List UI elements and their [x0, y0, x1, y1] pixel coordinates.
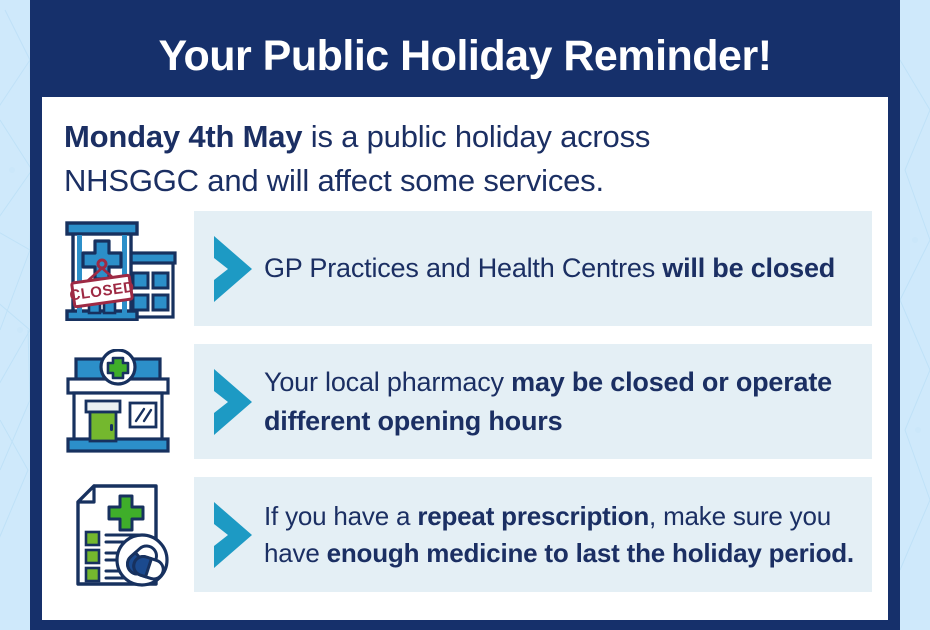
chevron-right-icon [194, 232, 264, 306]
intro-line2: NHSGGC and will affect some services. [64, 163, 604, 198]
health-centre-closed-icon: CLOSED [59, 217, 177, 321]
poster-header: • • • Your Public Holiday Reminder! [30, 0, 900, 97]
row2-regular: Your local pharmacy [264, 367, 511, 397]
row-icon-slot: CLOSED [42, 211, 194, 326]
intro-line1-rest: is a public holiday across [302, 119, 650, 154]
reminder-row-gp-practices: CLOSED GP Practices and Health Centres w… [42, 211, 888, 326]
row3-bold-2: enough medicine to last the holiday peri… [327, 538, 854, 568]
row-text: GP Practices and Health Centres will be … [264, 249, 853, 287]
repeat-prescription-icon [62, 480, 174, 590]
pharmacy-shop-icon [62, 349, 174, 455]
row-text-box: Your local pharmacy may be closed or ope… [194, 344, 872, 459]
row3-regular-1: If you have a [264, 501, 417, 531]
row1-bold: will be closed [662, 253, 835, 283]
row-text: If you have a repeat prescription, make … [264, 498, 872, 572]
chevron-right-icon [194, 365, 264, 439]
row3-bold-1: repeat prescription [417, 501, 649, 531]
row-text-box: GP Practices and Health Centres will be … [194, 211, 872, 326]
reminder-row-pharmacy: Your local pharmacy may be closed or ope… [42, 344, 888, 459]
reminder-rows: CLOSED GP Practices and Health Centres w… [42, 203, 888, 592]
row-icon-slot [42, 477, 194, 592]
reminder-row-prescription: If you have a repeat prescription, make … [42, 477, 888, 592]
intro-paragraph: Monday 4th May is a public holiday acros… [42, 97, 888, 203]
intro-bold-date: Monday 4th May [64, 119, 302, 154]
row1-regular: GP Practices and Health Centres [264, 253, 662, 283]
row-text: Your local pharmacy may be closed or ope… [264, 363, 872, 440]
row-text-box: If you have a repeat prescription, make … [194, 477, 872, 592]
content-card: Monday 4th May is a public holiday acros… [42, 97, 888, 620]
page-title: Your Public Holiday Reminder! [158, 32, 771, 97]
chevron-right-icon [194, 498, 264, 572]
row-icon-slot [42, 344, 194, 459]
